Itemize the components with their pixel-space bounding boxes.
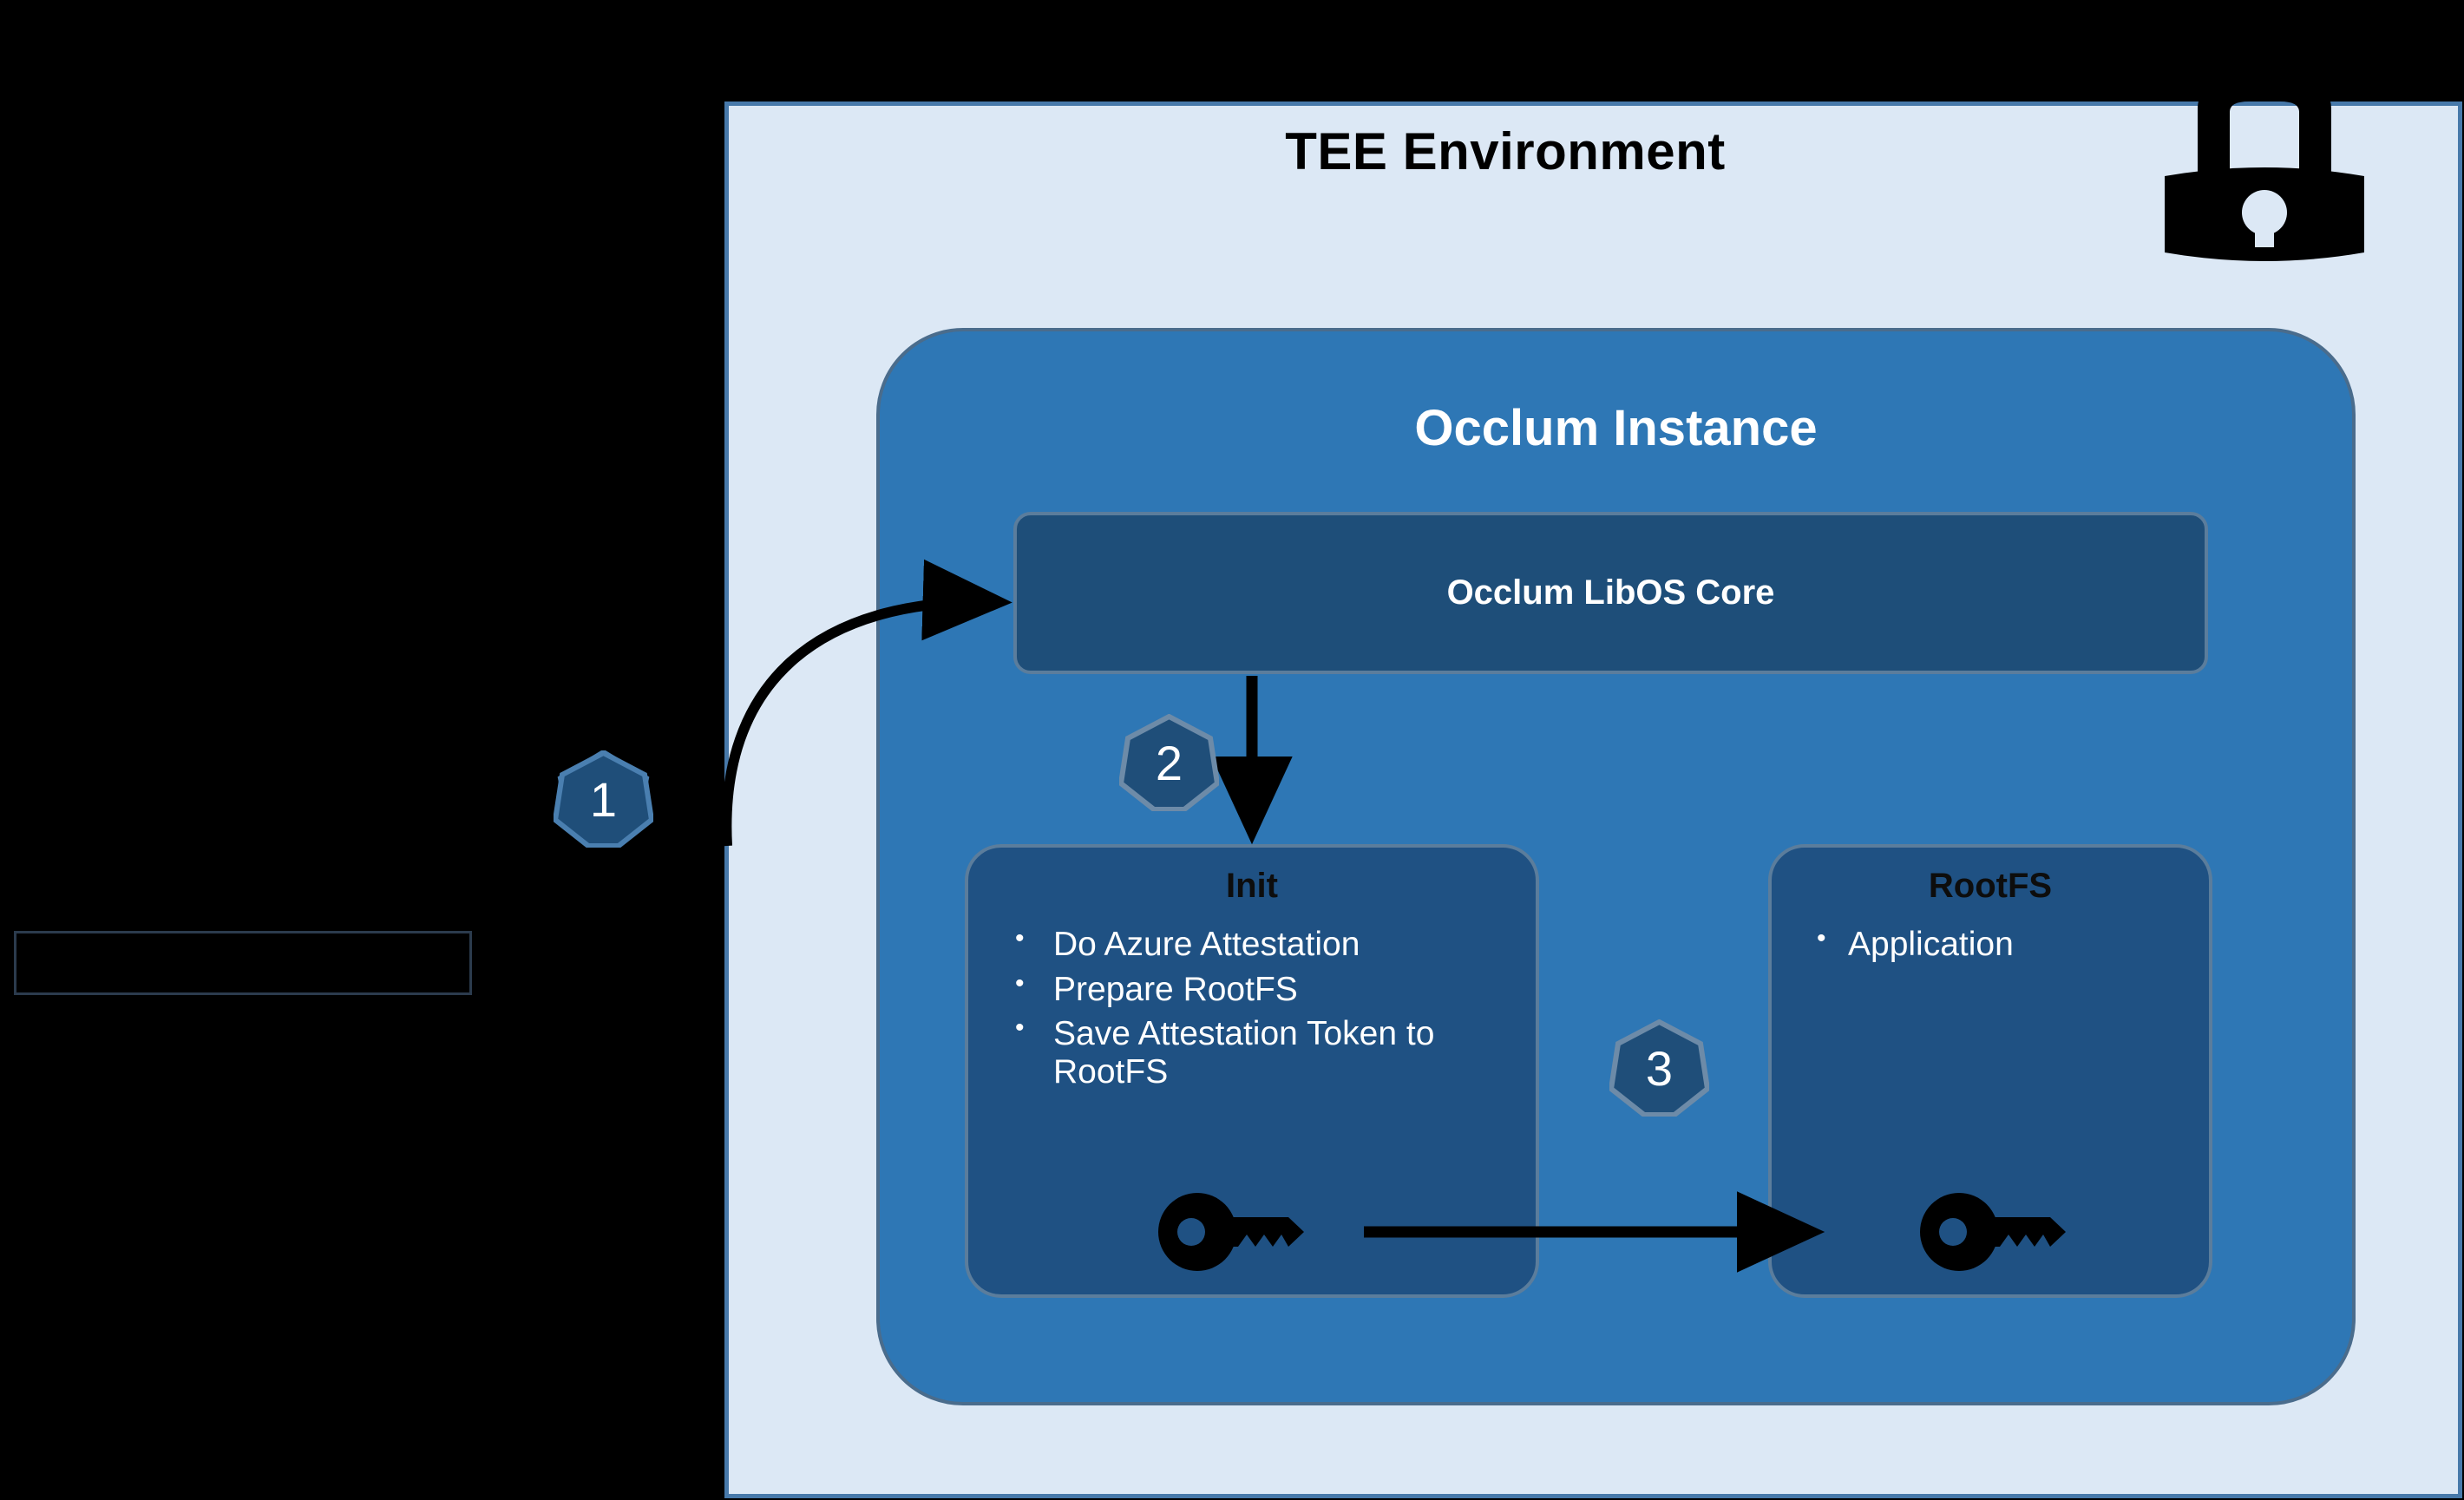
key-icon (1920, 1193, 2076, 1271)
step-badge-2-label: 2 (1119, 714, 1219, 811)
diagram-canvas: TEE Environment Occlum Instance Occlum L… (0, 0, 2464, 1500)
init-panel-title: Init (968, 867, 1536, 906)
rootfs-panel-list: Application (1780, 926, 2209, 971)
empty-stub-rectangle (14, 931, 472, 995)
rootfs-panel-title: RootFS (1772, 867, 2209, 906)
step-badge-3: 3 (1609, 1019, 1709, 1117)
init-panel-list: Do Azure Attestation Prepare RootFS Save… (979, 926, 1536, 1098)
tee-environment-title: TEE Environment (724, 121, 2286, 181)
occlum-instance-title: Occlum Instance (876, 399, 2356, 457)
step-badge-2: 2 (1119, 714, 1219, 811)
step-badge-1: 1 (554, 750, 653, 848)
list-item: Save Attestation Token to RootFS (979, 1015, 1536, 1091)
occlum-libos-core-label: Occlum LibOS Core (1447, 573, 1775, 612)
step-badge-3-label: 3 (1609, 1019, 1709, 1117)
padlock-icon (2165, 82, 2364, 269)
occlum-libos-core-box: Occlum LibOS Core (1013, 512, 2208, 674)
list-item: Application (1780, 926, 2209, 964)
step-badge-1-label: 1 (554, 750, 653, 848)
key-icon (1158, 1193, 1314, 1271)
list-item: Do Azure Attestation (979, 926, 1536, 964)
list-item: Prepare RootFS (979, 971, 1536, 1009)
